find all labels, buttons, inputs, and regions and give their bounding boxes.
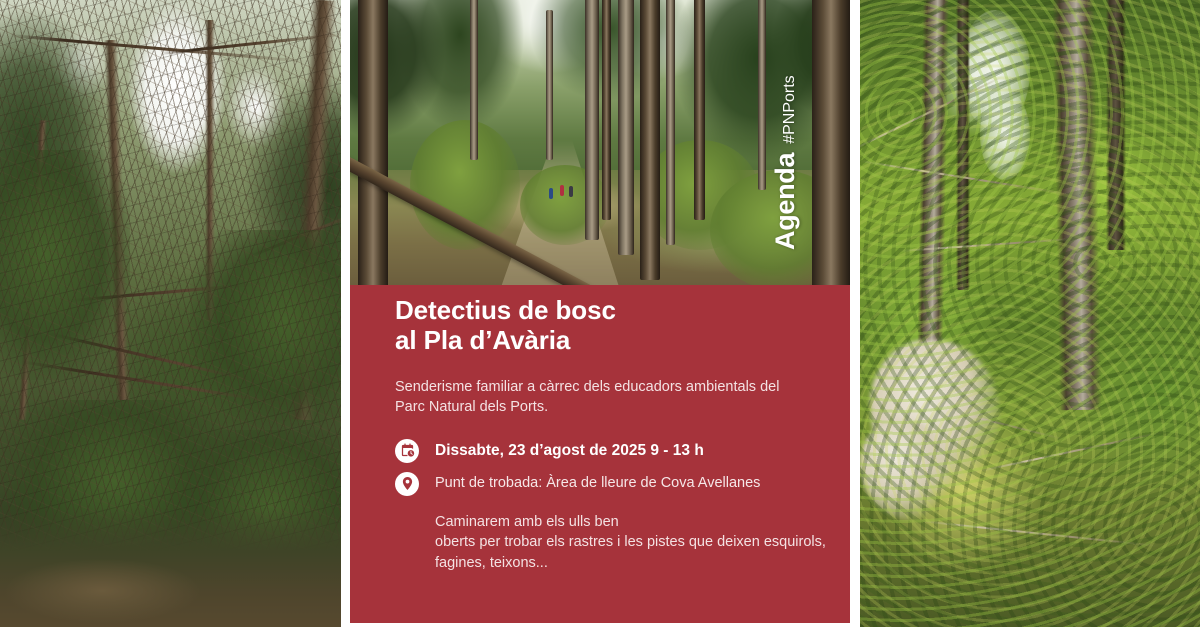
left-photo-forest-floor: [0, 507, 341, 627]
center-photo-trunk: [602, 0, 611, 220]
event-location-row: Punt de trobada: Àrea de lleure de Cova …: [395, 472, 828, 496]
center-photo-trunk: [812, 0, 850, 290]
event-date-text: Dissabte, 23 d’agost de 2025 9 - 13 h: [435, 442, 704, 461]
center-photo-trunk: [470, 0, 478, 160]
map-pin-icon: [395, 472, 419, 496]
event-title: Detectius de bosc al Pla d’Avària: [395, 295, 828, 356]
right-forest-photo: [860, 0, 1200, 627]
center-photo-trunk: [358, 0, 388, 290]
right-photo-leaf-texture: [860, 0, 1200, 627]
center-forest-trail-photo: [350, 0, 850, 290]
event-poster: Agenda #PNPorts Detectius de bosc al Pla…: [0, 0, 1200, 627]
center-photo-trunk: [666, 0, 675, 245]
center-photo-hiker: [560, 185, 564, 196]
center-photo-hiker: [569, 186, 573, 197]
event-date-row: Dissabte, 23 d’agost de 2025 9 - 13 h: [395, 439, 828, 463]
center-photo-trunk: [618, 0, 634, 255]
left-forest-photo: [0, 0, 341, 627]
center-photo-trunk: [694, 0, 705, 220]
center-photo-trunk: [758, 0, 766, 190]
center-photo-hiker: [549, 188, 553, 199]
event-info-content: Detectius de bosc al Pla d’Avària Sender…: [395, 295, 828, 574]
event-location-text: Punt de trobada: Àrea de lleure de Cova …: [435, 475, 760, 492]
center-photo-trunk: [640, 0, 660, 280]
event-subtitle: Senderisme familiar a càrrec dels educad…: [395, 377, 795, 417]
event-info-panel: Detectius de bosc al Pla d’Avària Sender…: [350, 285, 850, 623]
calendar-clock-icon: [395, 439, 419, 463]
center-photo-trunk: [585, 0, 599, 240]
center-photo-trunk: [546, 10, 553, 160]
event-note: Caminarem amb els ulls ben oberts per tr…: [435, 512, 828, 574]
event-meta-list: Dissabte, 23 d’agost de 2025 9 - 13 h Pu…: [395, 439, 828, 496]
